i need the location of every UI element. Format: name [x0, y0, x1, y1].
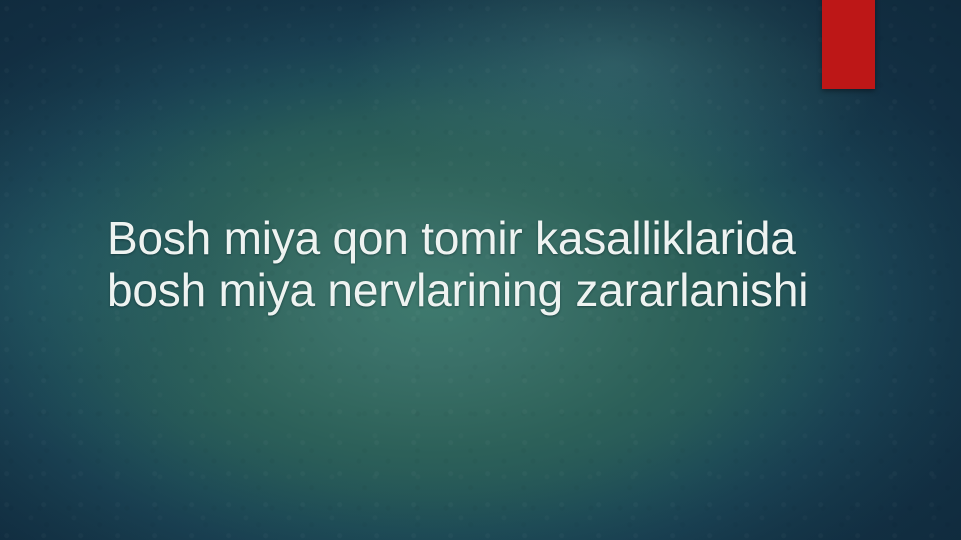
title-placeholder: Bosh miya qon tomir kasalliklarida bosh … [107, 212, 877, 316]
red-accent-bar [822, 0, 875, 89]
title-slide: Bosh miya qon tomir kasalliklarida bosh … [0, 0, 961, 540]
page-title: Bosh miya qon tomir kasalliklarida bosh … [107, 212, 877, 316]
